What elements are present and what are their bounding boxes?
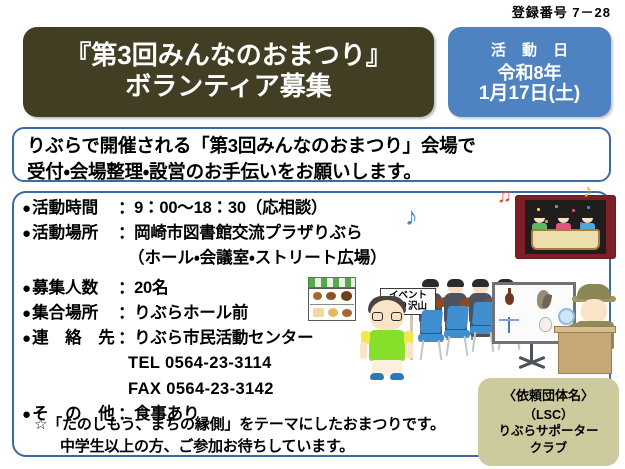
detail-colon: ： xyxy=(118,276,134,301)
bullet-icon: ● xyxy=(22,281,31,296)
organisation-name-line-1: りぶらサポーター xyxy=(498,423,598,440)
detail-row-contact: ● 連 絡 先 ： りぶら市民活動センター xyxy=(22,326,452,351)
stage-performance-illustration xyxy=(516,196,615,258)
lead-line-1: りぶらで開催される「第3回みんなのおまつり」会場で xyxy=(27,133,609,159)
detail-label: 募集人数 xyxy=(32,276,118,301)
detail-row-activity-time: ● 活動時間 ： 9：00〜18：30（応相談） xyxy=(22,196,452,221)
stage-backdrop xyxy=(525,200,606,254)
title-line-2: ボランティア募集 xyxy=(125,71,331,102)
notes-block: ☆「たのしもう、まちの縁側」をテーマにしたおまつりです。 中学生以上の方、ご参加… xyxy=(34,414,445,458)
confetti-shape xyxy=(537,208,540,211)
confetti-shape xyxy=(555,205,558,208)
detail-row-activity-place: ● 活動場所 ： 岡崎市図書館交流プラザりぶら xyxy=(22,221,452,246)
note-line-1: ☆「たのしもう、まちの縁側」をテーマにしたおまつりです。 xyxy=(34,414,445,436)
note-line-2: 中学生以上の方、ご参加お待ちしています。 xyxy=(34,436,445,458)
podium-top-shape xyxy=(554,326,616,333)
details-list: ● 活動時間 ： 9：00〜18：30（応相談） ● 活動場所 ： 岡崎市図書館… xyxy=(22,196,452,427)
activity-date-year: 令和8年 xyxy=(497,63,561,84)
organisation-name-line-2: クラブ xyxy=(530,440,568,457)
organisation-abbrev: （LSC） xyxy=(523,407,573,424)
dragonfly-wing-shape xyxy=(508,319,519,321)
contact-telephone: TEL 0564-23-3114 xyxy=(128,351,452,376)
bullet-icon: ● xyxy=(22,407,31,422)
magnifier-icon xyxy=(558,308,575,325)
hair-shape xyxy=(557,212,570,218)
detail-colon: ： xyxy=(118,196,134,221)
lead-line-2: 受付・会場整理・設営のお手伝いをお願いします。 xyxy=(27,159,609,185)
detail-row-meeting-place: ● 集合場所 ： りぶらホール前 xyxy=(22,301,452,326)
detail-label: 活動場所 xyxy=(32,221,118,246)
music-note-icon: ♫ xyxy=(497,186,512,206)
title-line-1: 『第3回みんなのおまつり』 xyxy=(65,41,391,71)
detail-row-positions: ● 募集人数 ： 20名 xyxy=(22,276,452,301)
detail-subvalue-venues: （ホール・会議室・ストリート広場） xyxy=(128,246,452,271)
hair-shape xyxy=(472,279,489,287)
chair-leg-shape xyxy=(472,332,477,352)
safari-hat-icon xyxy=(577,284,611,299)
music-note-icon: ♪ xyxy=(583,182,593,201)
activity-date-box: 活 動 日 令和8年 1月17日(土) xyxy=(448,27,611,117)
bullet-icon: ● xyxy=(22,306,31,321)
organisation-heading: 〈依頼団体名〉 xyxy=(503,388,594,405)
bullet-icon: ● xyxy=(22,226,31,241)
hair-shape xyxy=(581,212,594,218)
activity-date-day: 1月17日(土) xyxy=(479,83,580,105)
detail-label: 集合場所 xyxy=(32,301,118,326)
detail-value: 岡崎市図書館交流プラザりぶら xyxy=(134,221,362,246)
head-shape xyxy=(581,299,607,323)
confetti-shape xyxy=(587,206,590,209)
activity-date-label: 活 動 日 xyxy=(485,39,574,60)
bullet-icon: ● xyxy=(22,201,31,216)
hair-shape xyxy=(533,212,546,218)
detail-colon: ： xyxy=(118,301,134,326)
owl-body-shape xyxy=(539,317,552,332)
requesting-organisation-box: 〈依頼団体名〉 （LSC） りぶらサポーター クラブ xyxy=(478,378,619,466)
bullet-icon: ● xyxy=(22,331,31,346)
title-banner: 『第3回みんなのおまつり』 ボランティア募集 xyxy=(23,27,434,117)
confetti-shape xyxy=(572,209,575,212)
detail-value: りぶらホール前 xyxy=(134,301,248,326)
detail-colon: ： xyxy=(118,221,134,246)
contact-fax: FAX 0564-23-3142 xyxy=(128,377,452,402)
detail-value: りぶら市民活動センター xyxy=(134,326,313,351)
podium-shape xyxy=(558,330,612,374)
detail-label: 活動時間 xyxy=(32,196,118,221)
chair-leg-shape xyxy=(464,336,469,356)
beetle-body-shape xyxy=(505,293,514,305)
detail-value: 9：00〜18：30（応相談） xyxy=(134,196,327,221)
detail-value: 20名 xyxy=(134,276,168,301)
nature-lecture-illustration xyxy=(492,282,620,374)
stage-floor-shape xyxy=(531,229,600,250)
detail-label: 連 絡 先 xyxy=(32,326,118,351)
poster-root: 登録番号 7－28 『第3回みんなのおまつり』 ボランティア募集 活 動 日 令… xyxy=(0,0,625,469)
detail-colon: ： xyxy=(118,326,134,351)
registration-number: 登録番号 7－28 xyxy=(512,2,611,21)
lead-summary-box: りぶらで開催される「第3回みんなのおまつり」会場で 受付・会場整理・設営のお手伝… xyxy=(12,127,611,182)
